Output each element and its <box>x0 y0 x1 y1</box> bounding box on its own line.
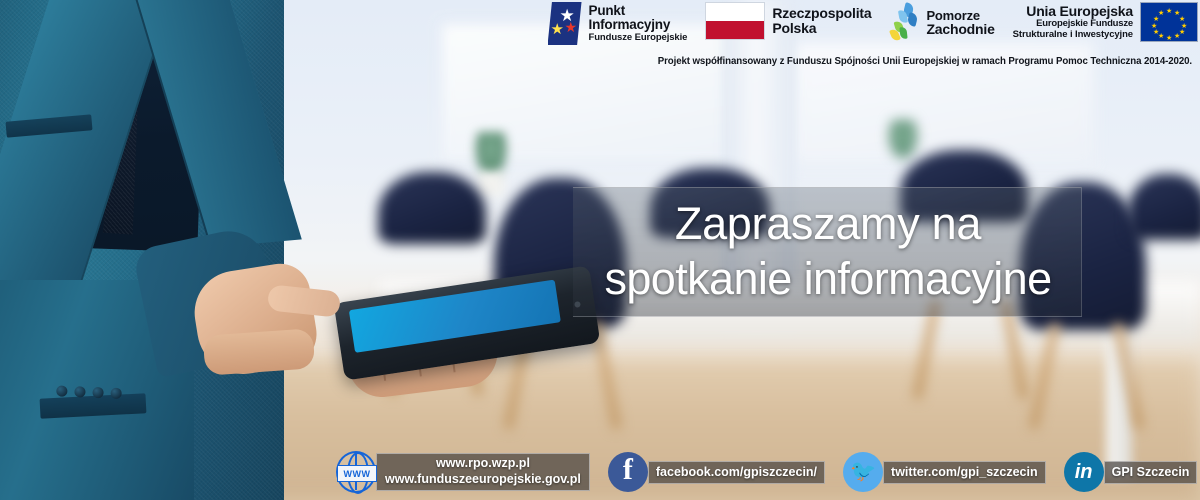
logo-line-2: Zachodnie <box>926 22 994 37</box>
page-title: Zapraszamy na spotkanie informacyjne <box>560 188 1096 316</box>
linkedin-icon: in <box>1064 452 1104 492</box>
logo-line-1: Unia Europejska <box>1013 4 1133 19</box>
facebook-glyph: f <box>623 453 633 487</box>
logo-line-1: Rzeczpospolita <box>772 6 871 21</box>
twitter-label: twitter.com/gpi_szczecin <box>883 461 1046 484</box>
logo-line-2: Informacyjny <box>589 18 688 32</box>
european-union-flag-icon: ★ ★ ★ ★ ★ ★ ★ ★ ★ ★ ★ ★ <box>1140 2 1198 42</box>
logo-pomorze-zachodnie-text: Pomorze Zachodnie <box>926 9 994 38</box>
funding-note: Projekt współfinansowany z Funduszu Spój… <box>658 56 1192 67</box>
website-url-2: www.funduszeeuropejskie.gov.pl <box>385 472 581 488</box>
facebook-icon: f <box>608 452 648 492</box>
polish-flag-icon <box>705 2 765 40</box>
chair-legs <box>1038 322 1138 430</box>
facebook-link[interactable]: f facebook.com/gpiszczecin/ <box>608 452 825 492</box>
logo-line-2: Polska <box>772 21 871 36</box>
headline-line-2: spotkanie informacyjne <box>604 252 1051 307</box>
logo-rzeczpospolita-text: Rzeczpospolita Polska <box>772 6 871 36</box>
linkedin-link[interactable]: in GPI Szczecin <box>1064 452 1198 492</box>
eu-funding-logo-strip: ★ ★ ★ Punkt Informacyjny Fundusze Europe… <box>0 0 1200 78</box>
website-url-1: www.rpo.wzp.pl <box>385 456 581 472</box>
linkedin-glyph: in <box>1075 461 1093 484</box>
logo-fundusze-europejskie-text: Punkt Informacyjny Fundusze Europejskie <box>589 4 688 43</box>
logo-pomorze-zachodnie: Pomorze Zachodnie <box>889 2 994 44</box>
logo-rzeczpospolita-polska: Rzeczpospolita Polska <box>705 2 871 40</box>
chair <box>378 172 486 244</box>
hand-knuckles <box>203 328 316 376</box>
logo-unia-europejska: Unia Europejska Europejskie Fundusze Str… <box>1013 2 1198 42</box>
pomorze-zachodnie-icon <box>889 2 919 44</box>
chair <box>1128 174 1200 240</box>
twitter-link[interactable]: 🐦 twitter.com/gpi_szczecin <box>843 452 1046 492</box>
facebook-label: facebook.com/gpiszczecin/ <box>648 461 825 484</box>
twitter-glyph: 🐦 <box>850 460 876 484</box>
logo-line-3: Strukturalne i Inwestycyjne <box>1013 30 1133 40</box>
logo-line-3: Fundusze Europejskie <box>589 33 688 43</box>
linkedin-label: GPI Szczecin <box>1104 461 1198 484</box>
logo-line-1: Pomorze <box>926 9 994 23</box>
twitter-icon: 🐦 <box>843 452 883 492</box>
event-invitation-banner: ★ ★ ★ Punkt Informacyjny Fundusze Europe… <box>0 0 1200 500</box>
fundusze-europejskie-icon: ★ ★ ★ <box>548 2 582 45</box>
logo-line-1: Punkt <box>589 4 688 18</box>
website-label: www.rpo.wzp.pl www.funduszeeuropejskie.g… <box>376 453 590 490</box>
social-links-bar: WWW www.rpo.wzp.pl www.funduszeeuropejsk… <box>336 452 1197 492</box>
logo-fundusze-europejskie: ★ ★ ★ Punkt Informacyjny Fundusze Europe… <box>548 2 688 45</box>
website-link[interactable]: WWW www.rpo.wzp.pl www.funduszeeuropejsk… <box>336 452 590 492</box>
globe-www-icon: WWW <box>336 452 376 492</box>
headline-line-1: Zapraszamy na <box>675 197 981 252</box>
logo-unia-europejska-text: Unia Europejska Europejskie Fundusze Str… <box>1013 4 1133 40</box>
